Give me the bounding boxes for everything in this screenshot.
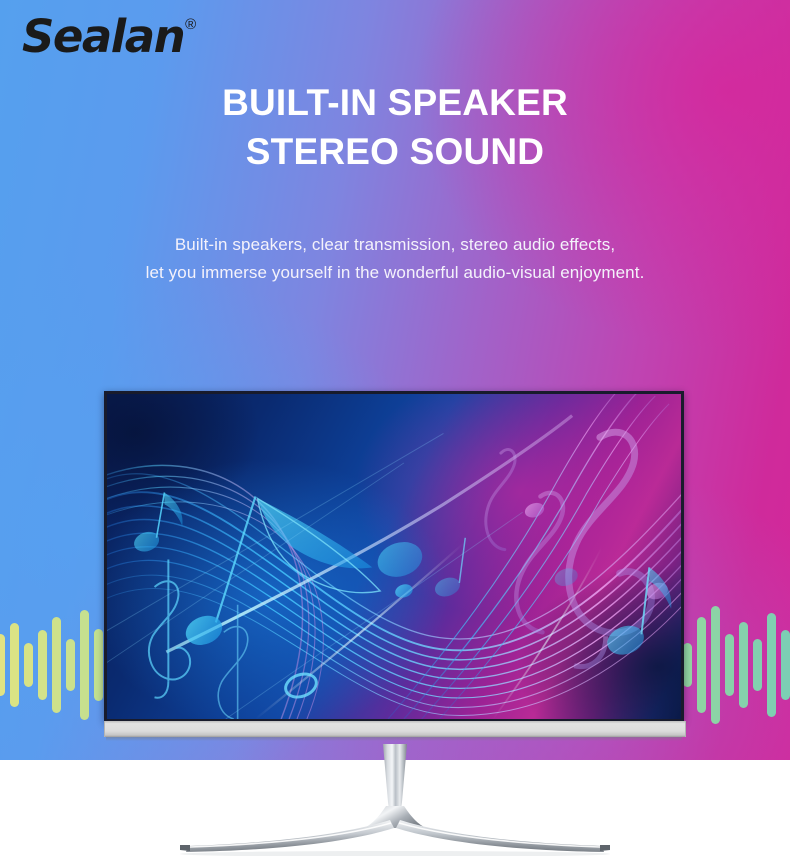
equalizer-bar bbox=[10, 623, 19, 707]
equalizer-bar bbox=[683, 643, 692, 687]
equalizer-bar bbox=[24, 643, 33, 687]
equalizer-bars-right bbox=[683, 590, 790, 740]
monitor-stand-shape bbox=[150, 744, 640, 856]
brand-logo: Sealan ® bbox=[22, 14, 196, 59]
equalizer-bar bbox=[38, 630, 47, 700]
equalizer-bar bbox=[767, 613, 776, 717]
equalizer-bar bbox=[66, 639, 75, 691]
description-text: Built-in speakers, clear transmission, s… bbox=[0, 231, 790, 286]
equalizer-bar bbox=[80, 610, 89, 720]
screen-music-artwork bbox=[107, 394, 681, 719]
monitor-stand bbox=[150, 744, 640, 856]
headline-line-2: STEREO SOUND bbox=[0, 127, 790, 176]
monitor-product-image bbox=[104, 391, 684, 746]
brand-logo-text: Sealan bbox=[22, 14, 184, 59]
description-line-1: Built-in speakers, clear transmission, s… bbox=[0, 231, 790, 259]
monitor-screen-panel bbox=[104, 391, 684, 721]
equalizer-bar bbox=[697, 617, 706, 713]
equalizer-bar bbox=[52, 617, 61, 713]
headline-line-1: BUILT-IN SPEAKER bbox=[0, 78, 790, 127]
monitor-bottom-bezel bbox=[104, 721, 686, 737]
monitor-shadow bbox=[106, 737, 682, 741]
equalizer-bar bbox=[725, 634, 734, 696]
equalizer-bar bbox=[0, 634, 5, 696]
description-line-2: let you immerse yourself in the wonderfu… bbox=[0, 259, 790, 287]
equalizer-bar bbox=[753, 639, 762, 691]
equalizer-bar bbox=[94, 629, 103, 701]
equalizer-bar bbox=[711, 606, 720, 724]
registered-trademark-icon: ® bbox=[185, 16, 196, 33]
equalizer-bar bbox=[739, 622, 748, 708]
product-banner: Sealan ® BUILT-IN SPEAKER STEREO SOUND B… bbox=[0, 0, 790, 862]
headline: BUILT-IN SPEAKER STEREO SOUND bbox=[0, 78, 790, 176]
equalizer-bar bbox=[781, 630, 790, 700]
